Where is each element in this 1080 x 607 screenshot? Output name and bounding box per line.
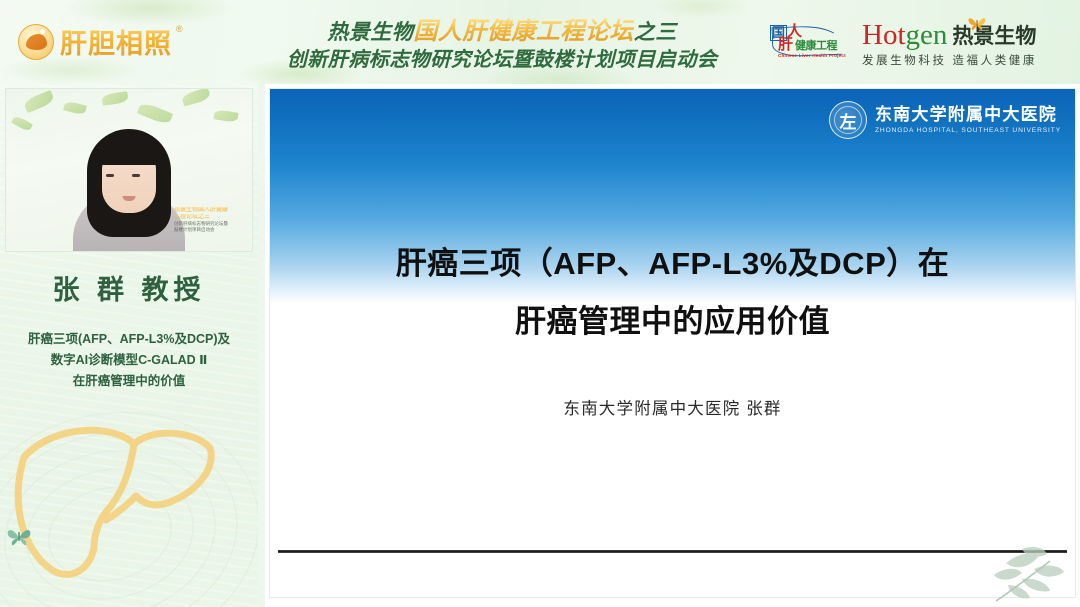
company-logo-hotgen: Hotgen 热景生物 发展生物科技 造福人类健康 bbox=[862, 18, 1072, 68]
video-watermark-line1: 热景生物国人肝健康 bbox=[174, 207, 248, 214]
speaker-eye bbox=[132, 174, 140, 177]
speaker-name: 张 群 教授 bbox=[0, 268, 258, 307]
project-logo-en: Chinese Liver Health Project bbox=[778, 53, 846, 58]
page-header: 肝胆相照 ® 热景生物国人肝健康工程论坛之三 创新肝病标志物研究论坛暨鼓楼计划项… bbox=[0, 0, 1080, 84]
project-logo-jiankang-gongcheng: 健康工程 bbox=[795, 40, 837, 52]
leaf-decoration-icon bbox=[181, 88, 211, 107]
slide-title: 肝癌三项（AFP、AFP-L3%及DCP）在 肝癌管理中的应用价值 bbox=[310, 235, 1035, 351]
leaf-decoration-icon bbox=[11, 115, 33, 133]
butterfly-decoration-icon bbox=[4, 524, 34, 550]
hospital-name-cn: 东南大学附属中大医院 bbox=[875, 105, 1061, 125]
speaker-sidebar: 热景生物国人肝健康 工程论坛之三 创新肝病标志物研究论坛暨 鼓楼计划项目启动会 … bbox=[0, 84, 258, 607]
liver-badge-icon bbox=[18, 24, 54, 60]
registered-mark: ® bbox=[176, 24, 183, 34]
forum-title-suffix: 之三 bbox=[634, 21, 677, 44]
leaf-decoration-icon bbox=[101, 91, 128, 106]
forum-title-line1: 热景生物国人肝健康工程论坛之三 bbox=[252, 18, 752, 46]
forum-title-prefix: 热景生物 bbox=[327, 21, 413, 44]
presentation-slide-area[interactable]: 东南大学附属中大医院 ZHONGDA HOSPITAL, SOUTHEAST U… bbox=[265, 84, 1080, 607]
video-watermark-line2: 工程论坛之三 bbox=[174, 214, 248, 221]
company-logo-en: Hotgen bbox=[862, 20, 947, 50]
butterfly-icon bbox=[966, 14, 988, 34]
project-logo-gan: 肝 bbox=[778, 37, 793, 52]
presentation-slide[interactable]: 东南大学附属中大医院 ZHONGDA HOSPITAL, SOUTHEAST U… bbox=[270, 89, 1075, 597]
slide-title-line2: 肝癌管理中的应用价值 bbox=[310, 293, 1035, 351]
speaker-eye bbox=[106, 174, 114, 177]
leaf-decoration-icon bbox=[213, 109, 238, 123]
leaf-decoration-icon bbox=[63, 100, 87, 115]
video-watermark-line4: 鼓楼计划项目启动会 bbox=[174, 227, 248, 233]
forum-title-line2: 创新肝病标志物研究论坛暨鼓楼计划项目启动会 bbox=[252, 47, 752, 73]
slide-title-line1: 肝癌三项（AFP、AFP-L3%及DCP）在 bbox=[310, 235, 1035, 293]
company-logo-cn: 热景生物 bbox=[952, 24, 1036, 50]
leaf-decoration-icon bbox=[23, 90, 56, 113]
hospital-emblem-icon bbox=[829, 101, 867, 139]
brand-logo-text: 肝胆相照 bbox=[60, 22, 172, 61]
company-tagline: 发展生物科技 造福人类健康 bbox=[862, 52, 1072, 68]
brand-logo-gandan: 肝胆相照 ® bbox=[18, 22, 183, 61]
speaker-topic: 肝癌三项(AFP、AFP-L3%及DCP)及 数字AI诊断模型C-GALAD Ⅱ… bbox=[6, 329, 252, 392]
liver-outline-decoration-icon bbox=[0, 402, 234, 592]
forum-title: 热景生物国人肝健康工程论坛之三 创新肝病标志物研究论坛暨鼓楼计划项目启动会 bbox=[252, 18, 752, 73]
slide-subtitle: 东南大学附属中大医院 张群 bbox=[310, 395, 1035, 419]
hospital-logo: 东南大学附属中大医院 ZHONGDA HOSPITAL, SOUTHEAST U… bbox=[829, 101, 1061, 139]
video-watermark: 热景生物国人肝健康 工程论坛之三 创新肝病标志物研究论坛暨 鼓楼计划项目启动会 bbox=[174, 207, 248, 245]
project-logo-chinese-liver-health: 国 人 肝 健康工程 Chinese Liver Health Project bbox=[770, 24, 850, 64]
hospital-name-en: ZHONGDA HOSPITAL, SOUTHEAST UNIVERSITY bbox=[875, 126, 1061, 135]
forum-title-highlight: 国人肝健康工程论坛 bbox=[413, 18, 634, 45]
speaker-topic-line1: 肝癌三项(AFP、AFP-L3%及DCP)及 bbox=[6, 329, 252, 350]
speaker-fringe bbox=[96, 135, 162, 165]
speaker-topic-line2: 数字AI诊断模型C-GALAD Ⅱ bbox=[6, 350, 252, 371]
speaker-video-feed[interactable]: 热景生物国人肝健康 工程论坛之三 创新肝病标志物研究论坛暨 鼓楼计划项目启动会 bbox=[5, 88, 253, 252]
leaf-decoration-icon bbox=[137, 101, 173, 126]
leaf-branch-decoration-icon bbox=[910, 545, 1070, 607]
